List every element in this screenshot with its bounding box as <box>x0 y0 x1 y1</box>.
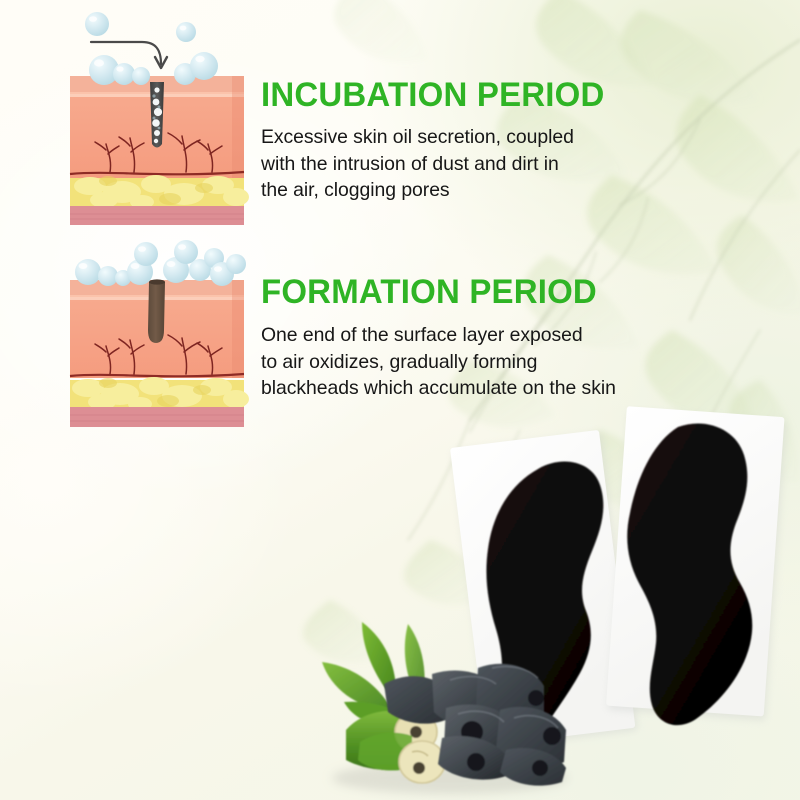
body-line: to air oxidizes, gradually forming <box>261 349 616 376</box>
body-line: Excessive skin oil secretion, coupled <box>261 124 574 151</box>
body-line: One end of the surface layer exposed <box>261 322 616 349</box>
body-formation-period: One end of the surface layer exposed to … <box>261 322 616 402</box>
product-photo-bamboo-charcoal <box>300 610 590 800</box>
heading-formation-period: FORMATION PERIOD <box>261 275 597 309</box>
illustration-incubation-skin-diagram <box>64 2 250 228</box>
body-line: with the intrusion of dust and dirt in <box>261 151 574 178</box>
body-line: blackheads which accumulate on the skin <box>261 375 616 402</box>
heading-incubation-period: INCUBATION PERIOD <box>261 78 604 112</box>
body-line: the air, clogging pores <box>261 177 574 204</box>
infographic-canvas: INCUBATION PERIOD Excessive skin oil sec… <box>0 0 800 800</box>
illustration-formation-skin-diagram <box>64 238 250 432</box>
body-incubation-period: Excessive skin oil secretion, coupled wi… <box>261 124 574 204</box>
